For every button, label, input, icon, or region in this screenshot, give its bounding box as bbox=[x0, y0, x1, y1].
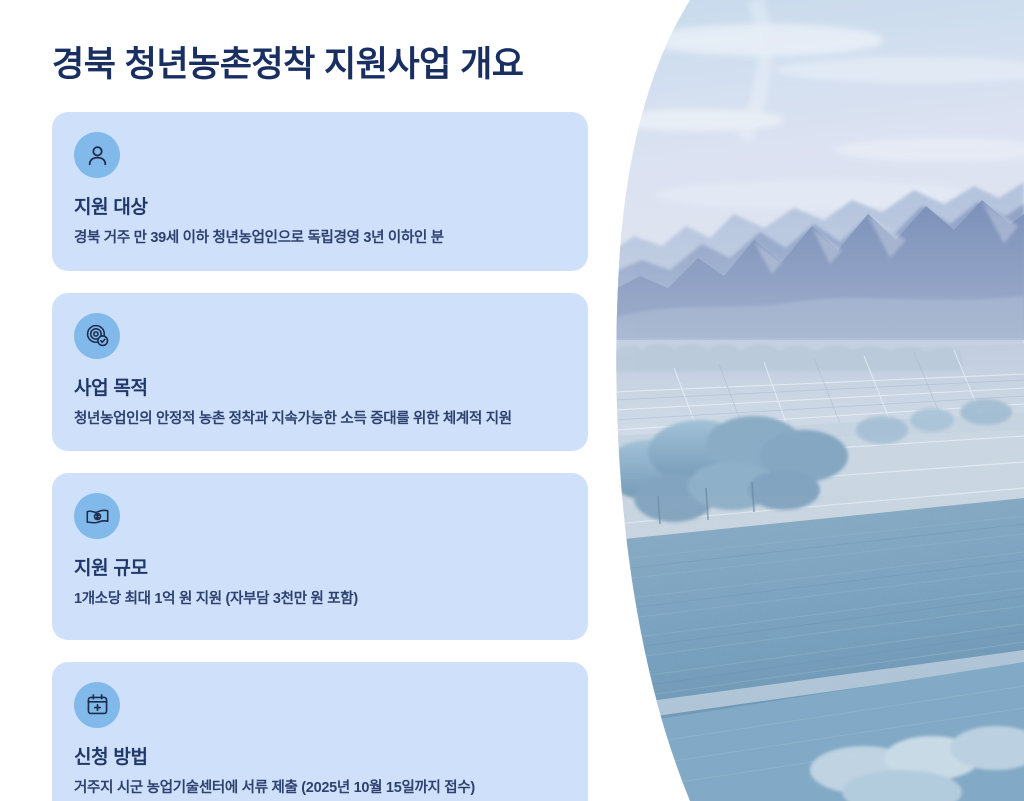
card-title: 지원 규모 bbox=[74, 553, 566, 580]
card-description: 청년농업인의 안정적 농촌 정착과 지속가능한 소득 증대를 위한 체계적 지원 bbox=[74, 410, 566, 430]
info-card-application-method[interactable]: 신청 방법 거주지 시군 농업기술센터에 서류 제출 (2025년 10월 15… bbox=[52, 662, 588, 801]
card-description: 경북 거주 만 39세 이하 청년농업인으로 독립경영 3년 이하인 분 bbox=[74, 229, 566, 249]
card-title: 신청 방법 bbox=[74, 742, 566, 769]
landscape-photo bbox=[614, 0, 1024, 801]
content-column: 경북 청년농촌정착 지원사업 개요 지원 대상 경북 거주 만 39세 이하 청… bbox=[0, 0, 640, 801]
page-title: 경북 청년농촌정착 지원사업 개요 bbox=[52, 36, 523, 87]
calendar-plus-icon bbox=[74, 682, 120, 728]
landscape-photo-panel bbox=[614, 0, 1024, 801]
info-card-support-target[interactable]: 지원 대상 경북 거주 만 39세 이하 청년농업인으로 독립경영 3년 이하인… bbox=[52, 112, 588, 271]
info-card-list: 지원 대상 경북 거주 만 39세 이하 청년농업인으로 독립경영 3년 이하인… bbox=[52, 112, 588, 801]
card-description: 1개소당 최대 1억 원 지원 (자부담 3천만 원 포함) bbox=[74, 590, 566, 610]
card-title: 지원 대상 bbox=[74, 192, 566, 219]
banknote-icon bbox=[74, 493, 120, 539]
target-check-icon bbox=[74, 313, 120, 359]
card-title: 사업 목적 bbox=[74, 373, 566, 400]
person-icon bbox=[74, 132, 120, 178]
info-card-support-scale[interactable]: 지원 규모 1개소당 최대 1억 원 지원 (자부담 3천만 원 포함) bbox=[52, 473, 588, 640]
card-description: 거주지 시군 농업기술센터에 서류 제출 (2025년 10월 15일까지 접수… bbox=[74, 779, 566, 799]
info-card-project-purpose[interactable]: 사업 목적 청년농업인의 안정적 농촌 정착과 지속가능한 소득 증대를 위한 … bbox=[52, 293, 588, 452]
slide-root: 경북 청년농촌정착 지원사업 개요 지원 대상 경북 거주 만 39세 이하 청… bbox=[0, 0, 1024, 801]
